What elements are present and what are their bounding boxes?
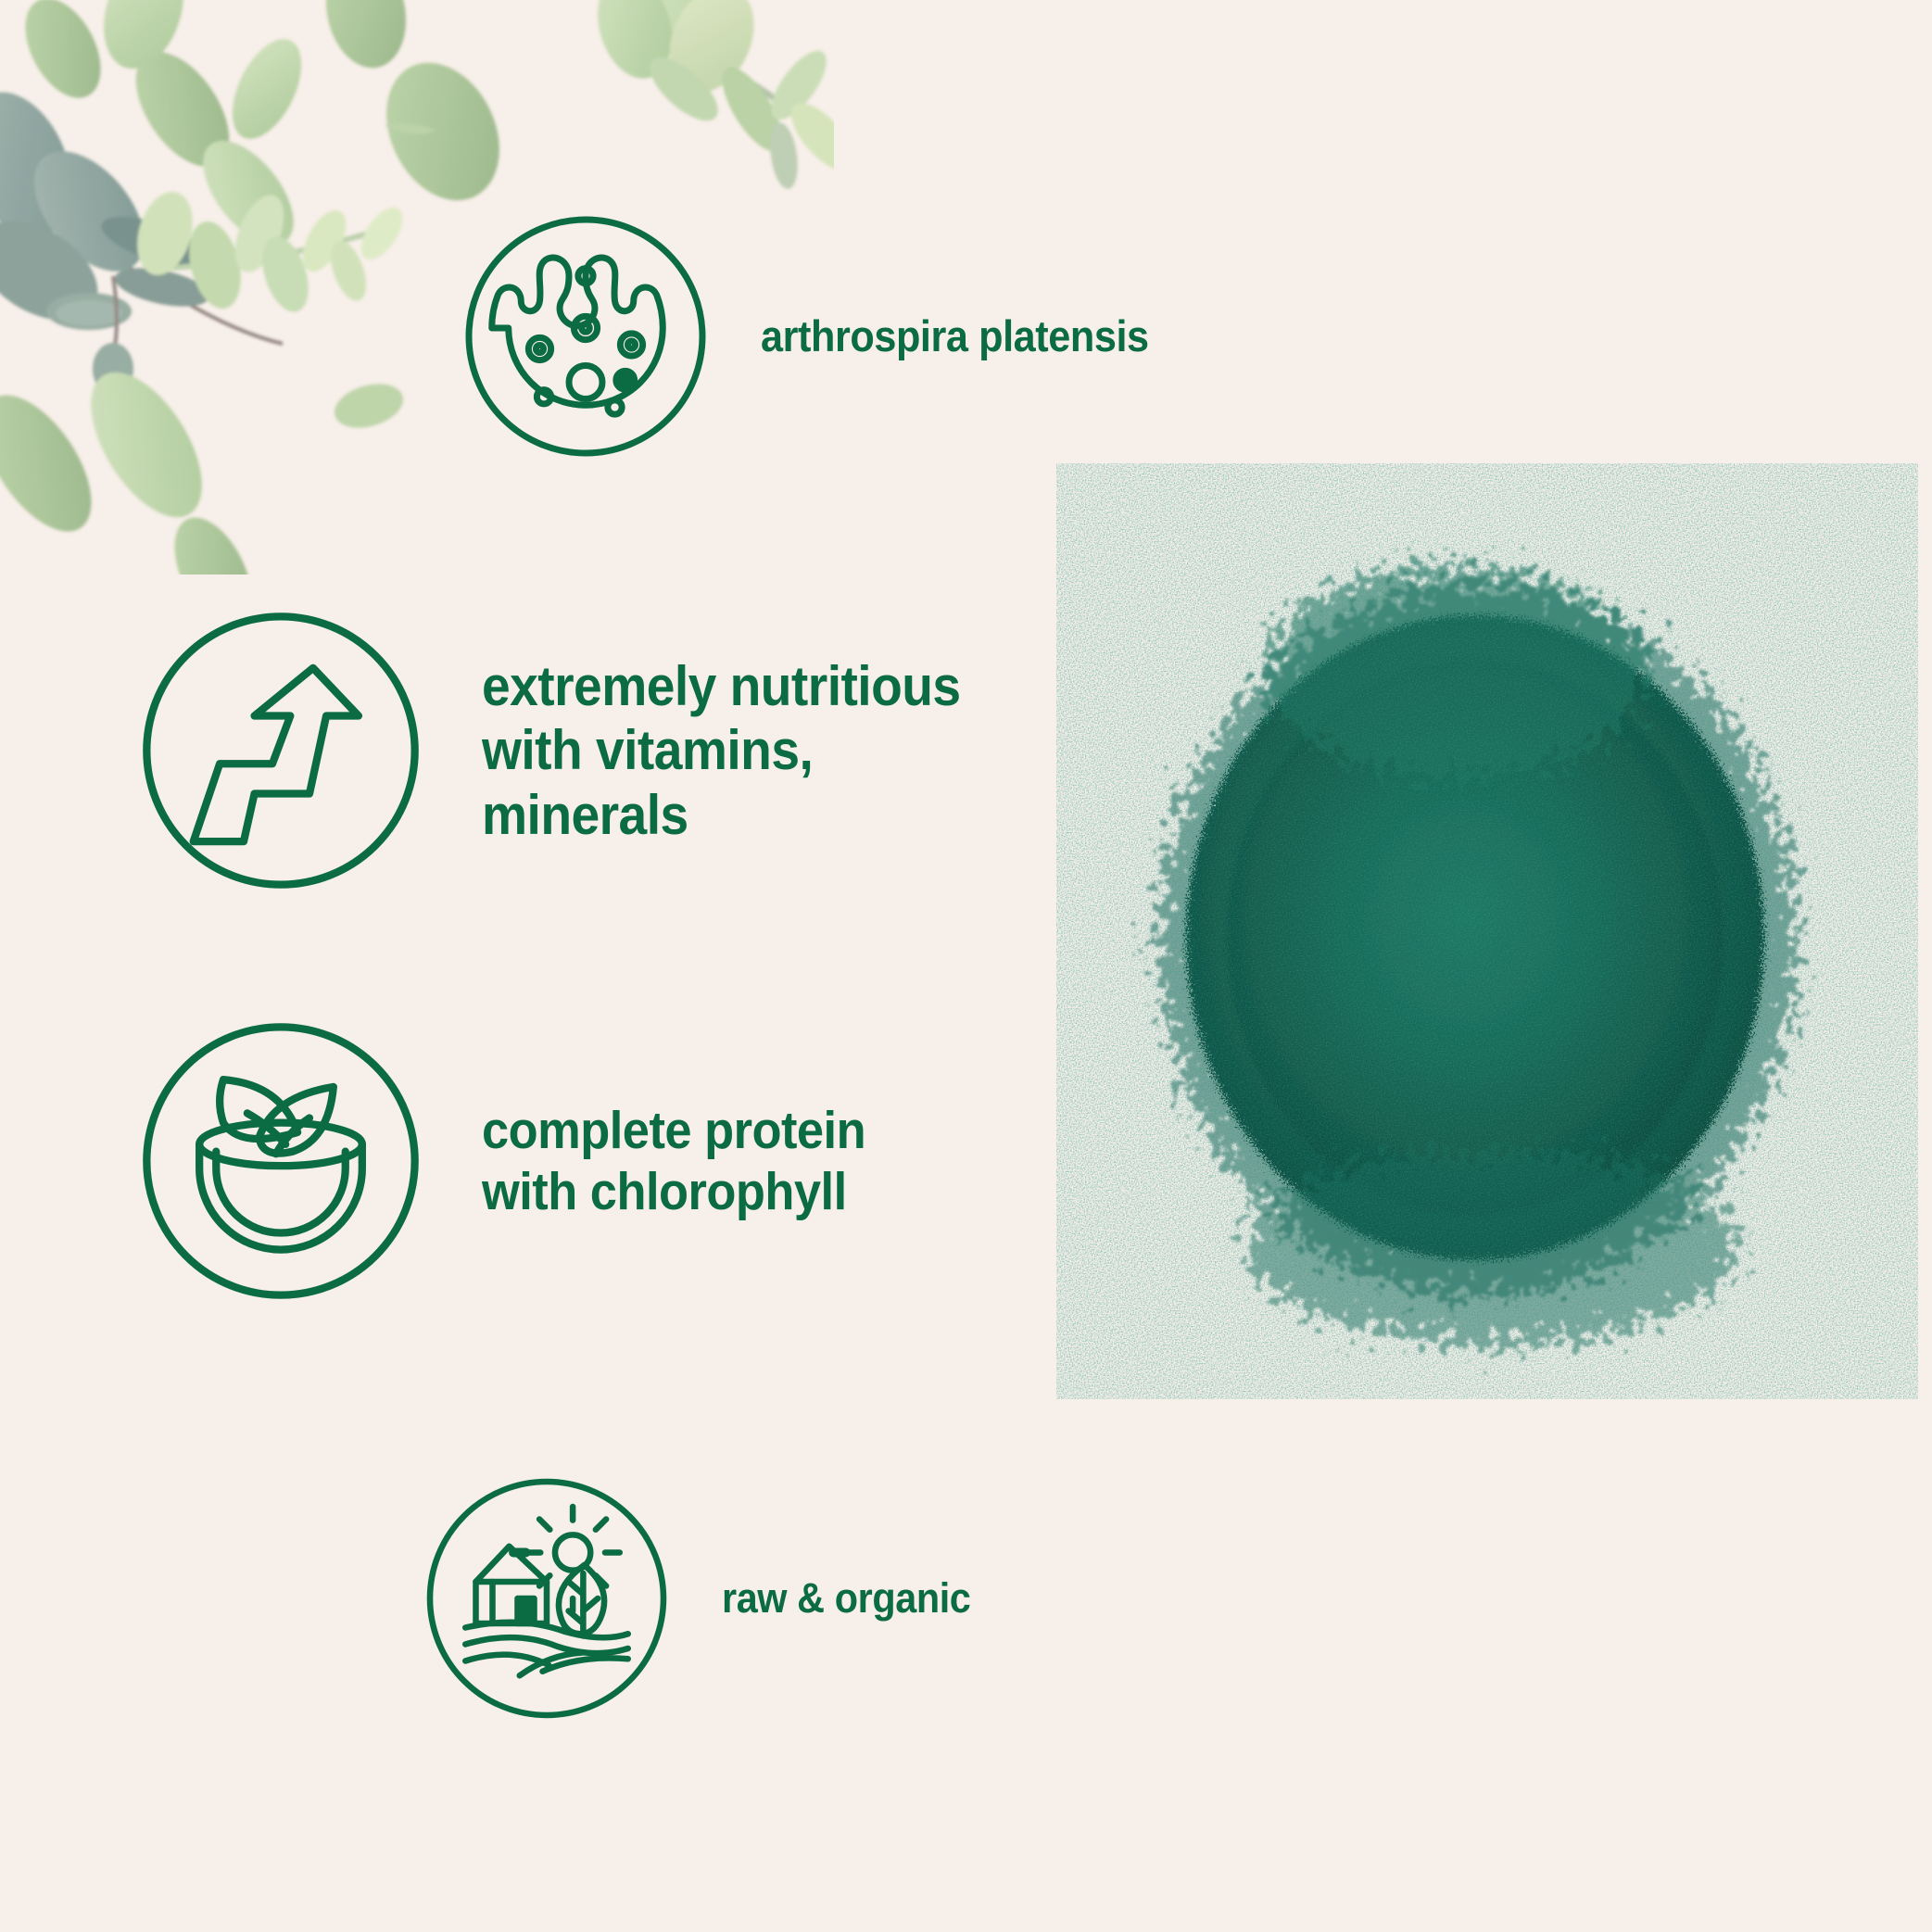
feature-label: arthrospira platensis bbox=[761, 311, 1149, 362]
feature-label: extremely nutritious with vitamins, mine… bbox=[482, 654, 961, 848]
spirulina-cell-icon bbox=[461, 211, 711, 461]
bowl-with-leaves-icon bbox=[137, 1017, 424, 1305]
feature-row-arthrospira-platensis: arthrospira platensis bbox=[461, 211, 1182, 461]
feature-row-extremely-nutritious: extremely nutritious with vitamins, mine… bbox=[137, 607, 1003, 894]
spirulina-powder-pile bbox=[1056, 463, 1918, 1399]
feature-label: complete protein with chlorophyll bbox=[482, 1100, 865, 1222]
spirulina-benefits-infographic: arthrospira platensis extremely nutritio… bbox=[0, 0, 1932, 1932]
feature-row-raw-organic: raw & organic bbox=[422, 1473, 992, 1724]
feature-row-complete-protein: complete protein with chlorophyll bbox=[137, 1017, 899, 1305]
farm-sun-plant-icon bbox=[422, 1473, 672, 1724]
upward-zigzag-arrow-icon bbox=[137, 607, 424, 894]
feature-label: raw & organic bbox=[722, 1574, 970, 1623]
